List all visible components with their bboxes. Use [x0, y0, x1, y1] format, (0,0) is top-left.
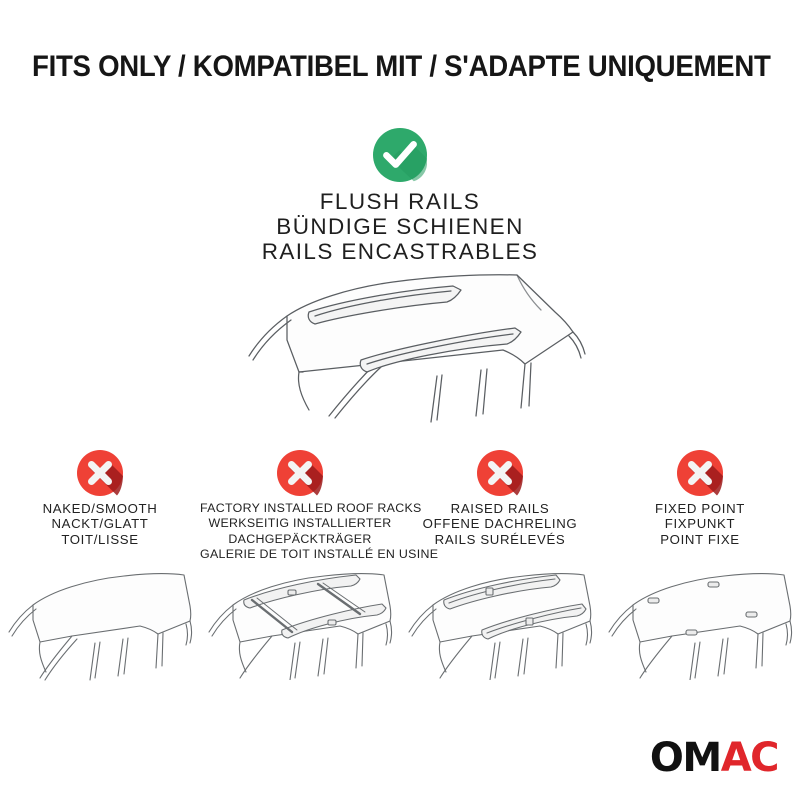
option-raised-rails: RAISED RAILS OFFENE DACHRELING RAILS SUR… — [400, 450, 600, 563]
car-roof-naked-smooth-illustration — [0, 558, 200, 688]
page-title: FITS ONLY / KOMPATIBEL MIT / S'ADAPTE UN… — [32, 50, 768, 84]
option-label-de: OFFENE DACHRELING — [400, 516, 600, 531]
compatible-label-group: FLUSH RAILS BÜNDIGE SCHIENEN RAILS ENCAS… — [0, 189, 800, 264]
compatible-label-en: FLUSH RAILS — [0, 189, 800, 214]
option-factory-roof-rack: FACTORY INSTALLED ROOF RACKS WERKSEITIG … — [200, 450, 400, 563]
option-label-group: NAKED/SMOOTH NACKT/GLATT TOIT/LISSE — [0, 501, 200, 547]
option-label-fr: RAILS SURÉLEVÉS — [400, 532, 600, 547]
car-roof-fixed-point-illustration — [600, 550, 800, 680]
option-fixed-point: FIXED POINT FIXPUNKT POINT FIXE — [600, 450, 800, 563]
option-label-en: FACTORY INSTALLED ROOF RACKS — [200, 501, 400, 516]
poster-canvas: FITS ONLY / KOMPATIBEL MIT / S'ADAPTE UN… — [0, 0, 800, 800]
car-roof-raised-rails-illustration — [400, 550, 600, 680]
compatible-label-de: BÜNDIGE SCHIENEN — [0, 214, 800, 239]
green-check-circle-icon — [373, 128, 427, 182]
option-label-group: FIXED POINT FIXPUNKT POINT FIXE — [600, 501, 800, 547]
option-naked-smooth: NAKED/SMOOTH NACKT/GLATT TOIT/LISSE — [0, 450, 200, 563]
red-x-circle-icon — [277, 450, 323, 496]
compatible-label-fr: RAILS ENCASTRABLES — [0, 239, 800, 264]
logo-text-dark: OM — [650, 735, 721, 781]
option-label-de: FIXPUNKT — [600, 516, 800, 531]
option-label-en: FIXED POINT — [600, 501, 800, 516]
option-label-de: NACKT/GLATT — [0, 516, 200, 531]
omac-logo: OMAC — [650, 738, 778, 778]
option-label-de-2: DACHGEPÄCKTRÄGER — [200, 532, 400, 547]
compatible-section: FLUSH RAILS BÜNDIGE SCHIENEN RAILS ENCAS… — [0, 128, 800, 264]
option-label-fr: POINT FIXE — [600, 532, 800, 547]
incompatible-options-row: NAKED/SMOOTH NACKT/GLATT TOIT/LISSE — [0, 450, 800, 563]
car-roof-factory-rack-illustration — [200, 550, 400, 680]
red-x-circle-icon — [677, 450, 723, 496]
option-label-de-1: WERKSEITIG INSTALLIERTER — [200, 516, 400, 531]
red-x-circle-icon — [477, 450, 523, 496]
logo-text-red: AC — [721, 735, 778, 781]
car-roof-flush-rails-illustration — [225, 268, 595, 433]
option-label-fr: TOIT/LISSE — [0, 532, 200, 547]
option-label-group: RAISED RAILS OFFENE DACHRELING RAILS SUR… — [400, 501, 600, 547]
option-label-en: RAISED RAILS — [400, 501, 600, 516]
red-x-circle-icon — [77, 450, 123, 496]
option-label-en: NAKED/SMOOTH — [0, 501, 200, 516]
